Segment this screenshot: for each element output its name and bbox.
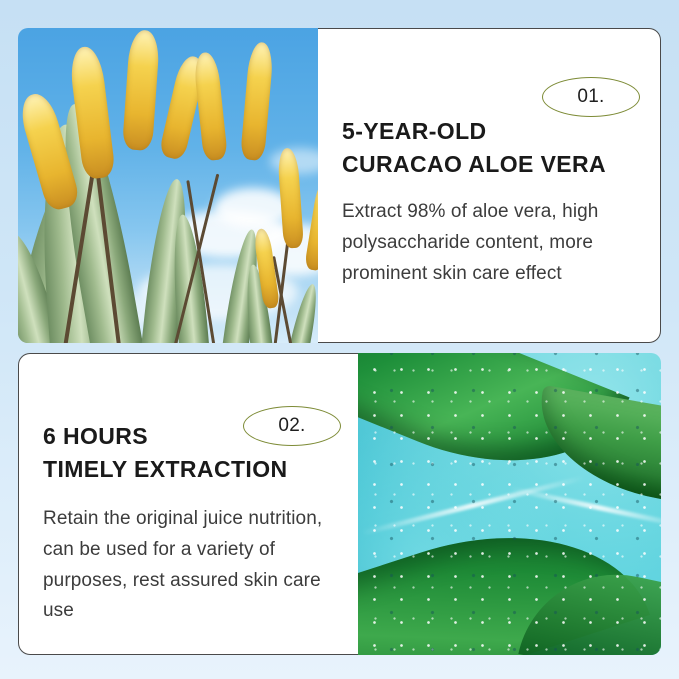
aloe-plant-photo bbox=[18, 28, 318, 343]
aloe-leaf-water-photo bbox=[358, 353, 661, 655]
feature-card-1: 01. 5-YEAR-OLD CURACAO ALOE VERA Extract… bbox=[318, 28, 661, 343]
feature-card-2: 02. 6 HOURS TIMELY EXTRACTION Retain the… bbox=[18, 353, 358, 655]
aloe-flower-spike bbox=[240, 41, 274, 161]
step-badge-01: 01. bbox=[542, 77, 640, 117]
headline-line-2: TIMELY EXTRACTION bbox=[43, 453, 288, 486]
product-feature-page: 01. 5-YEAR-OLD CURACAO ALOE VERA Extract… bbox=[0, 0, 679, 679]
feature-heading-1: 5-YEAR-OLD CURACAO ALOE VERA bbox=[342, 115, 606, 180]
aloe-flower-spike bbox=[122, 29, 160, 151]
feature-body-1: Extract 98% of aloe vera, high polysacch… bbox=[342, 197, 642, 289]
aloe-flower-spike bbox=[193, 51, 228, 161]
feature-heading-2: 6 HOURS TIMELY EXTRACTION bbox=[43, 420, 288, 485]
headline-line-1: 6 HOURS bbox=[43, 420, 288, 453]
headline-line-2: CURACAO ALOE VERA bbox=[342, 148, 606, 181]
step-badge-label: 01. bbox=[577, 86, 604, 108]
feature-body-2: Retain the original juice nutrition, can… bbox=[43, 504, 337, 627]
headline-line-1: 5-YEAR-OLD bbox=[342, 115, 606, 148]
water-droplets bbox=[358, 353, 661, 655]
